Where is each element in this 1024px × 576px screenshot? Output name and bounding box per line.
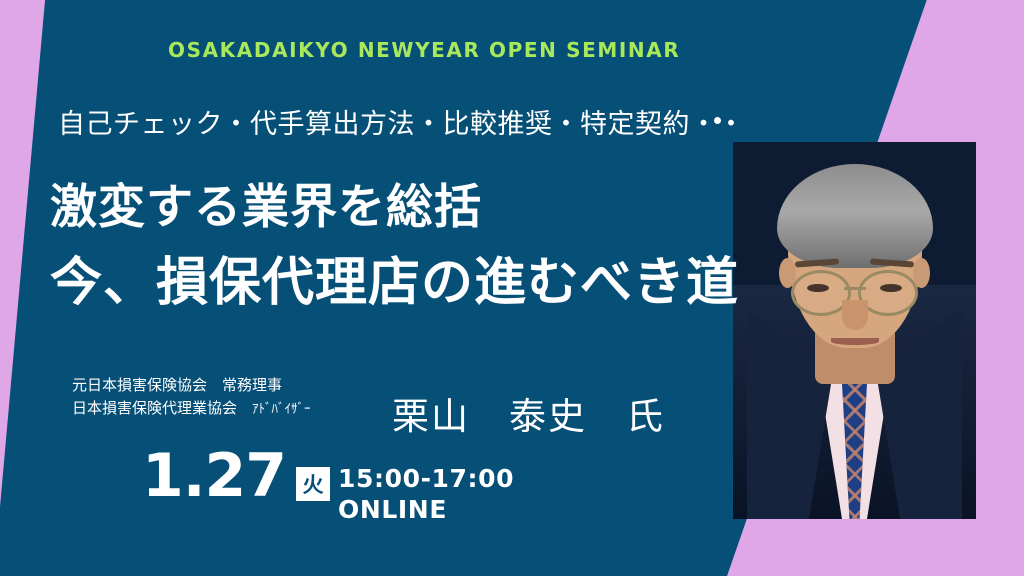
speaker-affiliation-line2: 日本損害保険代理業協会 ｱﾄﾞﾊﾞｲｻﾞｰ [72, 397, 311, 420]
speaker-portrait-photo [733, 142, 976, 519]
portrait-nose [842, 300, 868, 330]
seminar-headline-line1: 激変する業界を総括 [50, 168, 482, 237]
speaker-affiliation-org: 日本損害保険代理業協会 [72, 399, 252, 417]
schedule-time-block: 15:00-17:00 ONLINE [338, 463, 514, 526]
portrait-hair [777, 164, 933, 268]
seminar-headline-line2: 今、損保代理店の進むべき道 [50, 240, 739, 315]
speaker-affiliation-line1: 元日本損害保険協会 常務理事 [72, 374, 311, 397]
seminar-kicker: OSAKADAIKYO NEWYEAR OPEN SEMINAR [168, 38, 680, 62]
schedule-date: 1.27 [142, 448, 286, 505]
seminar-subtitle: 自己チェック・代手算出方法・比較推奨・特定契約・・ [58, 102, 745, 141]
schedule-time: 15:00-17:00 [338, 463, 514, 494]
seminar-poster: OSAKADAIKYO NEWYEAR OPEN SEMINAR 自己チェック・… [0, 0, 1024, 576]
schedule-date-block: 1.27 火 [142, 448, 330, 505]
speaker-affiliation-role: ｱﾄﾞﾊﾞｲｻﾞｰ [252, 402, 311, 417]
portrait-mouth [831, 338, 879, 345]
portrait-eyeglasses-bridge [844, 287, 866, 290]
schedule-day-of-week-badge: 火 [296, 467, 330, 501]
schedule-format: ONLINE [338, 494, 514, 525]
speaker-name: 栗山 泰史 氏 [392, 386, 665, 440]
speaker-affiliation: 元日本損害保険協会 常務理事 日本損害保険代理業協会 ｱﾄﾞﾊﾞｲｻﾞｰ [72, 374, 311, 421]
